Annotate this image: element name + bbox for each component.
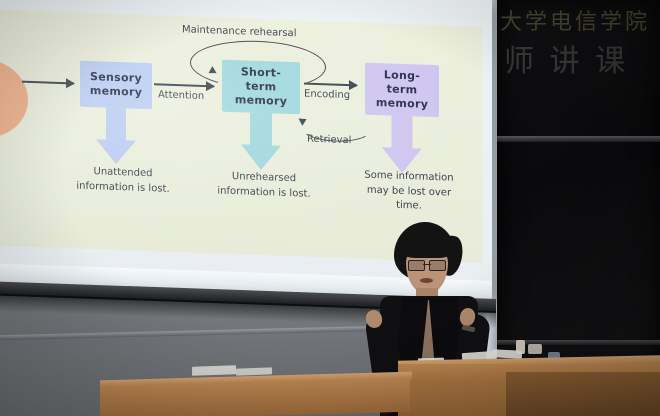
desk-object-box	[528, 344, 542, 354]
blackboard	[497, 0, 660, 372]
caption-unattended: Unattended information is lost.	[68, 164, 178, 197]
attention-label: Attention	[158, 89, 204, 102]
lecture-hall-photo: 大学电信学院 师 讲 课 ...ory ...t Maintenan	[0, 0, 660, 416]
down-arrow-ltm	[365, 115, 439, 176]
down-arrow-sensory	[80, 107, 152, 166]
encoding-label: Encoding	[304, 89, 350, 102]
podium-side-panel	[506, 372, 660, 416]
presenter-fringe	[400, 234, 454, 258]
node-sensory-memory-label: Sensory memory	[86, 70, 146, 100]
paper-sheet	[192, 365, 236, 376]
down-arrow-stm	[222, 112, 300, 173]
caption-some-information: Some information may be lost over time.	[354, 168, 464, 215]
arrow-stm-to-ltm	[302, 82, 357, 86]
paper-sheet	[236, 367, 272, 375]
retrieval-label: Retrieval	[307, 134, 351, 147]
arrow-input-to-sensory	[22, 81, 74, 85]
maintenance-rehearsal-label: Maintenance rehearsal	[182, 24, 296, 39]
presenter-glasses	[408, 260, 446, 269]
node-long-term-memory: Long-term memory	[365, 63, 439, 118]
node-short-term-memory: Short-term memory	[222, 60, 300, 115]
sensory-input-oval: ...ory ...t	[0, 58, 28, 139]
node-short-term-memory-label: Short-term memory	[222, 65, 300, 109]
chalk-rail-upper	[497, 136, 660, 142]
caption-unrehearsed: Unrehearsed information is lost.	[209, 169, 319, 202]
node-long-term-memory-label: Long-term memory	[365, 68, 439, 112]
arrow-sensory-to-stm	[154, 83, 214, 87]
node-sensory-memory: Sensory memory	[80, 61, 152, 110]
presenter-mouth	[420, 278, 433, 283]
